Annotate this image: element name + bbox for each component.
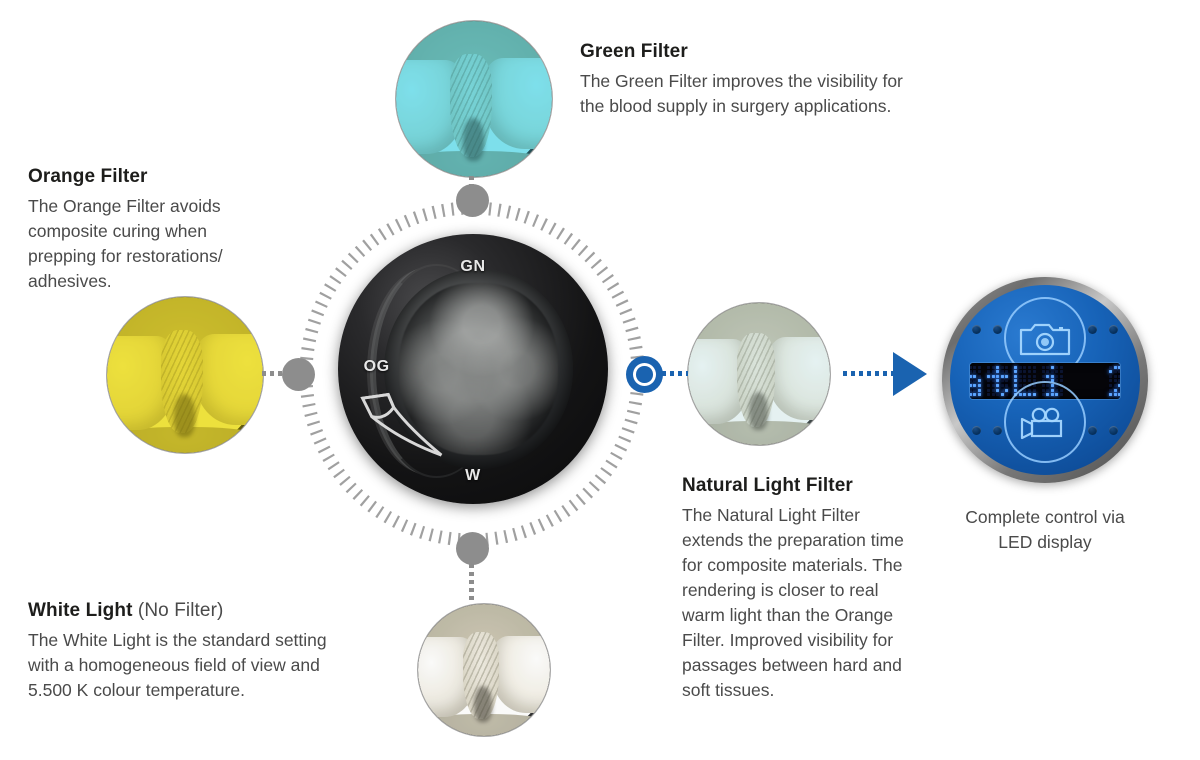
orange-filter-tooth-photo	[107, 297, 263, 453]
filter-knob[interactable]: GN OG W	[338, 234, 608, 504]
led-char	[1109, 366, 1120, 397]
natural-light-filter-text-block: Natural Light Filter The Natural Light F…	[682, 475, 922, 703]
infographic-canvas: GN OG W	[0, 0, 1200, 760]
rotation-arrow-icon	[357, 388, 449, 469]
led-char	[970, 366, 981, 397]
white-light-body: The White Light is the standard setting …	[28, 628, 358, 703]
arrow-to-device-icon	[893, 352, 927, 396]
display-caption: Complete control via LED display	[955, 505, 1135, 555]
dial-node-w[interactable]	[456, 532, 489, 565]
led-row-top-right	[1088, 325, 1118, 334]
led-display-unit	[942, 277, 1148, 483]
filter-selector-hub: GN OG W	[286, 188, 658, 560]
white-light-heading-bold: White Light	[28, 600, 133, 621]
white-light-text-block: White Light (No Filter) The White Light …	[28, 600, 358, 703]
knob-label-gn: GN	[460, 258, 485, 276]
natural-light-filter-tooth-photo	[688, 303, 830, 445]
green-filter-text-block: Green Filter The Green Filter improves t…	[580, 41, 930, 119]
orange-filter-body: The Orange Filter avoids composite curin…	[28, 194, 244, 294]
dial-node-natli-active[interactable]	[626, 356, 663, 393]
led-row-bottom-right	[1088, 426, 1118, 435]
white-light-heading-nofilter: (No Filter)	[138, 600, 224, 621]
orange-filter-text-block: Orange Filter The Orange Filter avoids c…	[28, 166, 244, 294]
orange-filter-heading: Orange Filter	[28, 166, 244, 189]
dial-node-gn[interactable]	[456, 184, 489, 217]
green-filter-heading: Green Filter	[580, 41, 930, 64]
connector-device	[843, 371, 893, 376]
green-filter-tooth-photo	[396, 21, 552, 177]
knob-label-w: W	[465, 467, 481, 485]
green-filter-body: The Green Filter improves the visibility…	[580, 69, 930, 119]
video-camera-icon[interactable]	[1004, 381, 1086, 463]
white-light-tooth-photo	[418, 604, 550, 736]
natural-light-filter-body: The Natural Light Filter extends the pre…	[682, 503, 922, 703]
natural-light-filter-heading: Natural Light Filter	[682, 475, 922, 498]
knob-label-og: OG	[364, 358, 390, 376]
led-char	[987, 366, 1008, 397]
led-row-bottom	[972, 426, 1002, 435]
white-light-heading: White Light (No Filter)	[28, 600, 358, 623]
dial-node-og[interactable]	[282, 358, 315, 391]
led-row-top	[972, 325, 1002, 334]
